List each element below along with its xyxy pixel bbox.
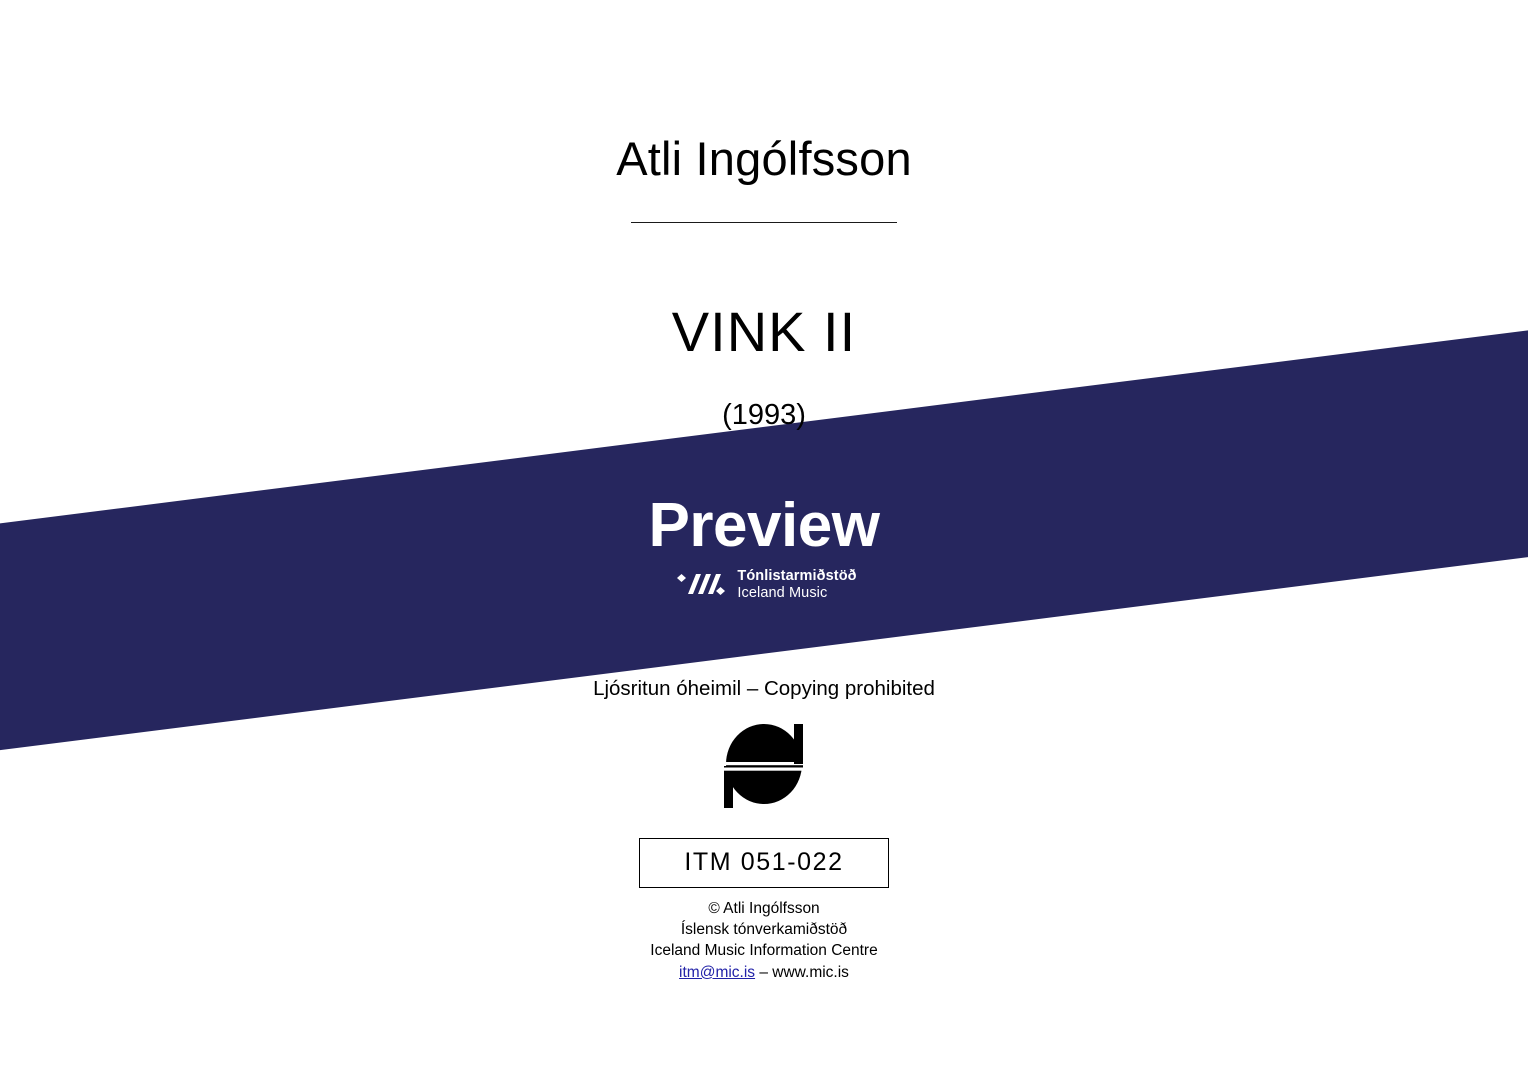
itm-circle-emblem-icon — [712, 722, 816, 808]
score-cover-page: Atli Ingólfsson VINK II (1993) Preview T… — [0, 0, 1528, 1080]
iceland-music-chevrons-icon — [671, 572, 727, 598]
footer-contact: itm@mic.is – www.mic.is — [0, 962, 1528, 983]
divider-line — [631, 222, 897, 223]
contact-separator: – — [755, 964, 772, 981]
email-link[interactable]: itm@mic.is — [679, 964, 755, 981]
publisher-footer: © Atli Ingólfsson Íslensk tónverkamiðstö… — [0, 898, 1528, 983]
catalogue-number-wrap: ITM 051-022 — [0, 838, 1528, 888]
footer-copyright: © Atli Ingólfsson — [0, 898, 1528, 919]
footer-publisher-english: Iceland Music Information Centre — [0, 940, 1528, 961]
iceland-music-logo-text: Tónlistarmiðstöð Iceland Music — [737, 568, 856, 602]
preview-watermark-label: Preview — [0, 490, 1528, 561]
title-divider — [0, 222, 1528, 240]
copying-prohibited-notice: Ljósritun óheimil – Copying prohibited — [0, 677, 1528, 701]
cover-content: Atli Ingólfsson VINK II (1993) Preview T… — [0, 0, 1528, 1080]
publisher-emblem-wrap — [0, 722, 1528, 808]
website-text: www.mic.is — [772, 964, 849, 981]
catalogue-number: ITM 051-022 — [639, 838, 888, 888]
logo-line-icelandic: Tónlistarmiðstöð — [737, 568, 856, 585]
iceland-music-logo: Tónlistarmiðstöð Iceland Music — [0, 568, 1528, 602]
logo-line-english: Iceland Music — [737, 585, 856, 602]
footer-publisher-icelandic: Íslensk tónverkamiðstöð — [0, 919, 1528, 940]
composition-year: (1993) — [0, 399, 1528, 432]
work-title: VINK II — [0, 299, 1528, 364]
composer-name: Atli Ingólfsson — [0, 131, 1528, 186]
